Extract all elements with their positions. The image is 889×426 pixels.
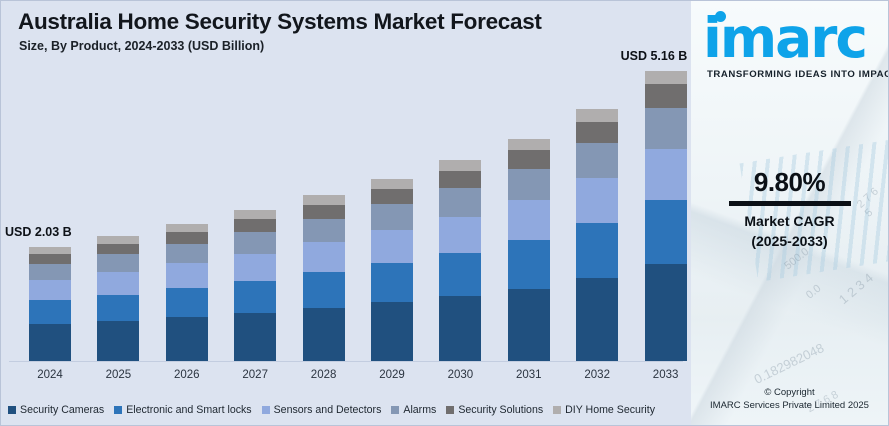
bar-segment <box>97 244 139 255</box>
legend-swatch-icon <box>446 406 454 414</box>
bar-group <box>439 160 481 361</box>
bar-segment <box>303 219 345 243</box>
bar-segment <box>97 321 139 361</box>
bar-segment <box>508 240 550 288</box>
bar-segment <box>439 171 481 188</box>
bar-segment <box>166 288 208 317</box>
start-value-annotation: USD 2.03 B <box>5 225 72 239</box>
bar-segment <box>439 253 481 296</box>
x-axis-tick-label: 2031 <box>499 369 559 381</box>
bar-segment <box>303 308 345 361</box>
brand-panel: 500.0 0.0 1 2 3 4 0.182982048 2 7 6 5 2 … <box>691 1 888 425</box>
bar-segment <box>303 272 345 307</box>
bar-segment <box>508 150 550 169</box>
bar-segment <box>234 210 276 219</box>
legend-label: Sensors and Detectors <box>274 404 382 416</box>
copyright-line-1: © Copyright <box>691 387 888 398</box>
bar-segment <box>576 223 618 278</box>
legend-label: Security Solutions <box>458 404 543 416</box>
legend-label: Electronic and Smart locks <box>126 404 251 416</box>
bar-chart-plot <box>1 1 691 361</box>
bar-segment <box>303 242 345 272</box>
bar-segment <box>29 324 71 361</box>
x-axis-tick-label: 2030 <box>430 369 490 381</box>
legend-label: Alarms <box>403 404 436 416</box>
cagr-label: Market CAGR <box>691 213 888 229</box>
bar-segment <box>371 204 413 230</box>
bar-segment <box>371 179 413 189</box>
bar-group <box>29 247 71 361</box>
bar-group <box>303 195 345 361</box>
bar-segment <box>29 247 71 254</box>
bar-group <box>576 109 618 361</box>
x-axis-tick-label: 2024 <box>20 369 80 381</box>
end-value-annotation: USD 5.16 B <box>621 49 688 63</box>
logo-dot-icon <box>715 11 726 22</box>
legend-swatch-icon <box>8 406 16 414</box>
bar-group <box>508 139 550 361</box>
bar-group <box>645 71 687 361</box>
bar-segment <box>29 280 71 300</box>
logo-tagline: TRANSFORMING IDEAS INTO IMPACT <box>707 69 888 80</box>
bar-segment <box>166 263 208 288</box>
bar-segment <box>645 149 687 201</box>
x-axis-tick-label: 2027 <box>225 369 285 381</box>
bar-segment <box>97 295 139 321</box>
bar-segment <box>234 219 276 232</box>
bar-group <box>371 179 413 361</box>
cagr-period: (2025-2033) <box>691 233 888 249</box>
legend-item[interactable]: Security Solutions <box>446 404 543 416</box>
bar-segment <box>371 189 413 205</box>
legend-label: Security Cameras <box>20 404 104 416</box>
bar-segment <box>576 109 618 121</box>
legend-swatch-icon <box>262 406 270 414</box>
bar-segment <box>576 122 618 143</box>
bar-segment <box>576 178 618 223</box>
bar-segment <box>508 289 550 361</box>
bar-segment <box>166 317 208 361</box>
x-axis-tick-label: 2028 <box>294 369 354 381</box>
bar-segment <box>645 108 687 148</box>
bar-segment <box>371 302 413 361</box>
bar-group <box>234 210 276 361</box>
bar-segment <box>508 200 550 240</box>
bar-segment <box>97 254 139 272</box>
bar-segment <box>576 278 618 361</box>
bar-segment <box>508 169 550 200</box>
bar-segment <box>303 205 345 219</box>
bar-segment <box>303 195 345 205</box>
bar-segment <box>234 281 276 313</box>
x-axis-tick-label: 2026 <box>157 369 217 381</box>
cagr-value: 9.80% <box>691 167 888 198</box>
bar-segment <box>508 139 550 150</box>
bar-segment <box>234 313 276 361</box>
imarc-logo: imarc TRANSFORMING IDEAS INTO IMPACT <box>699 9 881 83</box>
bar-segment <box>645 200 687 264</box>
x-axis-tick-label: 2033 <box>636 369 696 381</box>
bar-segment <box>371 230 413 263</box>
copyright-line-2: IMARC Services Private Limited 2025 <box>691 400 888 411</box>
bar-group <box>97 236 139 361</box>
legend-item[interactable]: Alarms <box>391 404 436 416</box>
legend-item[interactable]: Electronic and Smart locks <box>114 404 251 416</box>
x-axis-tick-label: 2029 <box>362 369 422 381</box>
bar-segment <box>29 300 71 324</box>
bar-group <box>166 224 208 361</box>
bar-segment <box>439 217 481 253</box>
legend-item[interactable]: Sensors and Detectors <box>262 404 382 416</box>
bar-segment <box>645 84 687 108</box>
bar-segment <box>645 71 687 84</box>
chart-panel: Australia Home Security Systems Market F… <box>1 1 691 425</box>
bar-segment <box>439 296 481 361</box>
x-axis-labels: 2024202520262027202820292030203120322033 <box>1 369 691 389</box>
legend-swatch-icon <box>114 406 122 414</box>
legend-swatch-icon <box>553 406 561 414</box>
legend-swatch-icon <box>391 406 399 414</box>
bar-segment <box>645 264 687 361</box>
legend-item[interactable]: DIY Home Security <box>553 404 655 416</box>
bar-segment <box>166 224 208 232</box>
x-axis-line <box>9 361 683 362</box>
cagr-divider <box>729 201 851 206</box>
bar-segment <box>29 264 71 280</box>
bar-segment <box>166 244 208 264</box>
bar-segment <box>97 236 139 243</box>
bar-segment <box>97 272 139 294</box>
bar-segment <box>439 160 481 171</box>
bar-segment <box>166 232 208 244</box>
infographic-root: Australia Home Security Systems Market F… <box>0 0 889 426</box>
chart-legend: Security CamerasElectronic and Smart loc… <box>1 397 691 423</box>
bar-segment <box>29 254 71 264</box>
bar-segment <box>371 263 413 302</box>
x-axis-tick-label: 2025 <box>88 369 148 381</box>
x-axis-tick-label: 2032 <box>567 369 627 381</box>
bar-segment <box>234 232 276 253</box>
bar-segment <box>576 143 618 178</box>
logo-wordmark: imarc <box>703 9 881 67</box>
legend-item[interactable]: Security Cameras <box>8 404 104 416</box>
legend-label: DIY Home Security <box>565 404 655 416</box>
bar-segment <box>234 254 276 281</box>
bar-segment <box>439 188 481 217</box>
